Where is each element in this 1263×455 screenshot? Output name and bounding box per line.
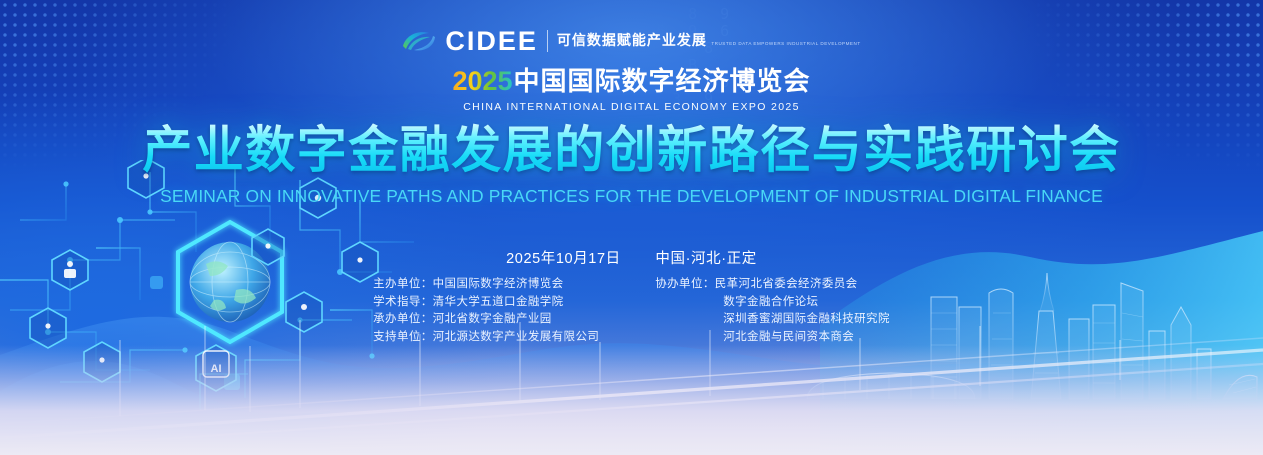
organizer-line: 承办单位：河北省数字金融产业园: [373, 311, 599, 329]
expo-title-row: 2025 中国国际数字经济博览会: [0, 61, 1263, 98]
organizer-label: 承办单位：: [373, 311, 433, 329]
organizer-value: 民革河北省委会经济委员会: [715, 278, 858, 290]
tagline-en: TRUSTED DATA EMPOWERS INDUSTRIAL DEVELOP…: [711, 41, 860, 46]
organizer-value: 中国国际数字经济博览会: [433, 278, 564, 290]
cidee-swoosh-icon: [402, 30, 436, 52]
organizer-label: 主办单位：: [373, 276, 433, 294]
organizer-value: 清华大学五道口金融学院: [433, 296, 564, 308]
cidee-logo: CIDEE 可信数据赋能产业发展 TRUSTED DATA EMPOWERS I…: [0, 26, 1263, 56]
tagline-cn: 可信数据赋能产业发展: [557, 32, 707, 48]
organizer-value: 深圳香蜜湖国际金融科技研究院: [723, 313, 890, 325]
organizer-value: 数字金融合作论坛: [723, 296, 818, 308]
organizer-line: 支持单位：河北源达数字产业发展有限公司: [373, 329, 599, 347]
organizer-value: 河北省数字金融产业园: [433, 313, 552, 325]
logo-divider: [547, 30, 548, 52]
organizer-value: 河北源达数字产业发展有限公司: [433, 331, 600, 343]
expo-name-en: CHINA INTERNATIONAL DIGITAL ECONOMY EXPO…: [0, 101, 1263, 113]
organizer-line: 数字金融合作论坛: [655, 294, 890, 312]
organizer-label: 支持单位：: [373, 329, 433, 347]
event-location: 中国·河北·正定: [655, 251, 756, 267]
event-date: 2025年10月17日: [506, 251, 621, 267]
organizer-column-right: 协办单位：民革河北省委会经济委员会 数字金融合作论坛 深圳香蜜湖国际金融科技研究…: [655, 276, 890, 346]
page-subtitle: SEMINAR ON INNOVATIVE PATHS AND PRACTICE…: [3, 186, 1260, 207]
organizer-value: 河北金融与民间资本商会: [723, 331, 854, 343]
organizer-line: 协办单位：民革河北省委会经济委员会: [655, 276, 890, 294]
cidee-wordmark: CIDEE: [445, 28, 538, 55]
organizer-column-left: 主办单位：中国国际数字经济博览会 学术指导：清华大学五道口金融学院 承办单位：河…: [373, 276, 599, 346]
expo-name-cn: 中国国际数字经济博览会: [514, 61, 811, 98]
brand-tagline: 可信数据赋能产业发展 TRUSTED DATA EMPOWERS INDUSTR…: [557, 33, 861, 49]
organizer-line: 主办单位：中国国际数字经济博览会: [373, 276, 599, 294]
organizer-label: 协办单位：: [655, 276, 715, 294]
organizer-line: 深圳香蜜湖国际金融科技研究院: [655, 311, 890, 329]
page-title: 产业数字金融发展的创新路径与实践研讨会: [0, 122, 1263, 178]
expo-year: 2025: [452, 66, 512, 97]
brand-lockup: CIDEE 可信数据赋能产业发展 TRUSTED DATA EMPOWERS I…: [0, 26, 1263, 113]
organizer-line: 河北金融与民间资本商会: [655, 329, 890, 347]
organizer-block: 主办单位：中国国际数字经济博览会 学术指导：清华大学五道口金融学院 承办单位：河…: [0, 276, 1263, 346]
organizer-line: 学术指导：清华大学五道口金融学院: [373, 294, 599, 312]
event-banner: 7 8 9 5 9 6 7 8 B 9 3 6 3 9: [0, 0, 1263, 455]
organizer-label: 学术指导：: [373, 294, 433, 312]
event-datetime: 2025年10月17日 中国·河北·正定: [0, 247, 1263, 268]
